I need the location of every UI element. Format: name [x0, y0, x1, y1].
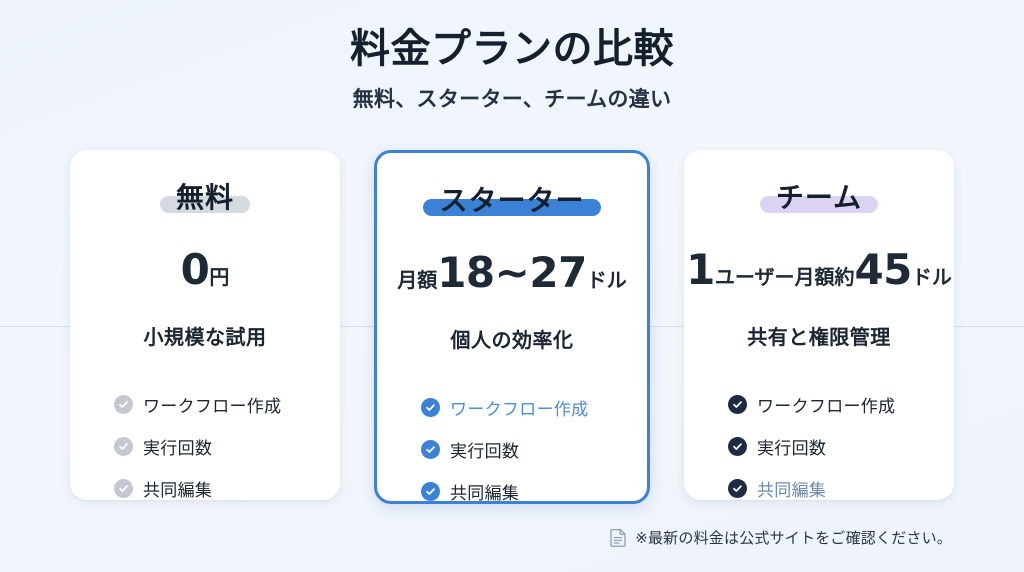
plan-name-starter: スターター	[439, 184, 584, 217]
check-circle-icon	[421, 398, 440, 417]
document-icon	[610, 528, 627, 547]
infographic-root: 料金プランの比較 無料、スターター、チームの違い 無料 0 円 小規模な試用	[0, 0, 1024, 572]
check-circle-icon	[114, 437, 133, 456]
page-subtitle: 無料、スターター、チームの違い	[0, 83, 1024, 113]
check-circle-icon	[421, 482, 440, 501]
check-circle-icon	[728, 437, 747, 456]
feature-item: 共同編集	[728, 476, 928, 501]
feature-list-team: ワークフロー作成 実行回数 共同編集	[710, 392, 928, 518]
feature-item: 共同編集	[421, 479, 621, 504]
plan-card-starter[interactable]: スターター 月額 18~27 ドル 個人の効率化 ワークフロー作成	[374, 150, 650, 504]
feature-label: 共同編集	[450, 479, 519, 504]
feature-item: ワークフロー作成	[114, 392, 314, 417]
plan-name-wrap-starter: スターター	[423, 183, 600, 218]
check-circle-icon	[114, 479, 133, 498]
plan-price-starter: 月額 18~27 ドル	[397, 252, 627, 294]
feature-label: ワークフロー作成	[757, 392, 895, 417]
footnote-text: ※最新の料金は公式サイトをご確認ください。	[635, 527, 952, 548]
feature-label: 共同編集	[143, 476, 212, 501]
check-circle-icon	[728, 395, 747, 414]
plan-price-suffix-starter: ドル	[587, 270, 627, 290]
plan-price-amount-free: 0	[181, 249, 210, 291]
feature-label: 実行回数	[757, 434, 826, 459]
feature-item: ワークフロー作成	[728, 392, 928, 417]
feature-label: ワークフロー作成	[450, 395, 588, 420]
footnote: ※最新の料金は公式サイトをご確認ください。	[610, 527, 952, 548]
feature-item: 実行回数	[114, 434, 314, 459]
plan-name-wrap-team: チーム	[760, 180, 878, 215]
plan-tagline-free: 小規模な試用	[144, 321, 267, 350]
check-circle-icon	[114, 395, 133, 414]
feature-label: 共同編集	[757, 476, 826, 501]
plan-price-suffix-free: 円	[209, 267, 229, 287]
feature-item: 実行回数	[728, 434, 928, 459]
feature-label: ワークフロー作成	[143, 392, 281, 417]
plan-name-team: チーム	[776, 181, 862, 214]
plan-card-list: 無料 0 円 小規模な試用 ワークフロー作成	[70, 150, 954, 504]
plan-price-suffix-team: ドル	[912, 267, 952, 287]
feature-item: 実行回数	[421, 437, 621, 462]
plan-name-wrap-free: 無料	[160, 180, 250, 215]
plan-card-free[interactable]: 無料 0 円 小規模な試用 ワークフロー作成	[70, 150, 340, 500]
plan-price-team: 1 ユーザー月額約 45 ドル	[686, 249, 952, 291]
check-circle-icon	[728, 479, 747, 498]
plan-price-amount2-team: 45	[854, 249, 911, 291]
plan-name-free: 無料	[176, 181, 234, 214]
plan-price-prefix-starter: 月額	[397, 270, 437, 290]
header: 料金プランの比較 無料、スターター、チームの違い	[0, 26, 1024, 113]
feature-list-starter: ワークフロー作成 実行回数 共同編集	[403, 395, 621, 521]
check-circle-icon	[421, 440, 440, 459]
feature-label: 実行回数	[450, 437, 519, 462]
feature-item: ワークフロー作成	[421, 395, 621, 420]
plan-price-amount-starter: 18~27	[437, 252, 587, 294]
plan-price-free: 0 円	[181, 249, 230, 291]
plan-price-amount-team: 1	[686, 249, 715, 291]
feature-item: 共同編集	[114, 476, 314, 501]
feature-label: 実行回数	[143, 434, 212, 459]
feature-list-free: ワークフロー作成 実行回数 共同編集	[96, 392, 314, 518]
page-title: 料金プランの比較	[0, 26, 1024, 73]
plan-tagline-team: 共有と権限管理	[747, 321, 891, 350]
plan-card-team[interactable]: チーム 1 ユーザー月額約 45 ドル 共有と権限管理 ワークフロー作成	[684, 150, 954, 500]
plan-price-mid-team: ユーザー月額約	[715, 267, 855, 287]
plan-tagline-starter: 個人の効率化	[451, 324, 574, 353]
